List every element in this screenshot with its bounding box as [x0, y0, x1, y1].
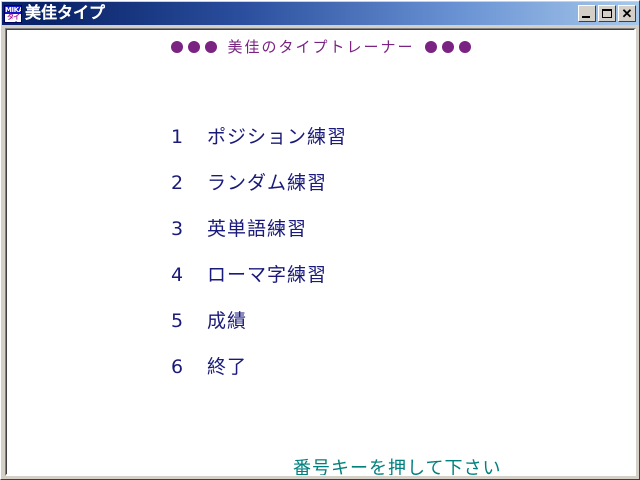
mika-type-icon-top-text: MIKA: [5, 6, 21, 14]
maximize-button[interactable]: [598, 5, 616, 22]
header-bullets-left: [171, 41, 217, 53]
header-bullets-right: [425, 41, 471, 53]
menu-item-results[interactable]: 5 成績: [171, 306, 571, 352]
close-icon: ✕: [619, 6, 635, 21]
maximize-icon: [602, 9, 612, 18]
menu-item-number: 1: [171, 126, 207, 148]
bullet-icon: [425, 41, 437, 53]
bullet-icon: [188, 41, 200, 53]
bullet-icon: [442, 41, 454, 53]
menu-item-number: 3: [171, 218, 207, 240]
minimize-icon: [582, 16, 590, 18]
client-area: 美佳のタイプトレーナー 1 ポジション練習 2 ランダム練習 3: [7, 30, 635, 475]
bullet-icon: [171, 41, 183, 53]
menu-item-number: 4: [171, 264, 207, 286]
client-area-frame: 美佳のタイプトレーナー 1 ポジション練習 2 ランダム練習 3: [5, 28, 636, 476]
footer-prompt: 番号キーを押して下さい: [293, 454, 501, 475]
mika-type-icon: MIKA タイプ: [4, 5, 22, 23]
menu-item-exit[interactable]: 6 終了: [171, 352, 571, 398]
close-button[interactable]: ✕: [618, 5, 636, 22]
menu-item-romaji-practice[interactable]: 4 ローマ字練習: [171, 260, 571, 306]
menu-item-label: ローマ字練習: [207, 260, 571, 287]
bullet-icon: [205, 41, 217, 53]
menu-item-english-word-practice[interactable]: 3 英単語練習: [171, 214, 571, 260]
app-header: 美佳のタイプトレーナー: [7, 36, 635, 57]
app-header-title: 美佳のタイプトレーナー: [227, 36, 414, 57]
menu-item-label: ランダム練習: [207, 168, 571, 195]
menu-item-label: 終了: [207, 352, 571, 379]
menu-item-number: 2: [171, 172, 207, 194]
application-window: MIKA タイプ 美佳タイプ ✕ 美佳のタイプトレ: [0, 0, 640, 480]
window-title: 美佳タイプ: [25, 4, 578, 24]
window-controls: ✕: [578, 5, 636, 22]
menu-item-random-practice[interactable]: 2 ランダム練習: [171, 168, 571, 214]
bullet-icon: [459, 41, 471, 53]
title-bar[interactable]: MIKA タイプ 美佳タイプ ✕: [2, 2, 639, 25]
menu-item-number: 6: [171, 356, 207, 378]
menu-item-position-practice[interactable]: 1 ポジション練習: [171, 122, 571, 168]
menu-item-label: 成績: [207, 306, 571, 333]
menu-item-number: 5: [171, 310, 207, 332]
menu-item-label: ポジション練習: [207, 122, 571, 149]
main-menu: 1 ポジション練習 2 ランダム練習 3 英単語練習 4 ローマ字練習 5: [171, 122, 571, 398]
menu-item-label: 英単語練習: [207, 214, 571, 241]
mika-type-icon-bottom-text: タイプ: [5, 14, 21, 22]
minimize-button[interactable]: [578, 5, 596, 22]
